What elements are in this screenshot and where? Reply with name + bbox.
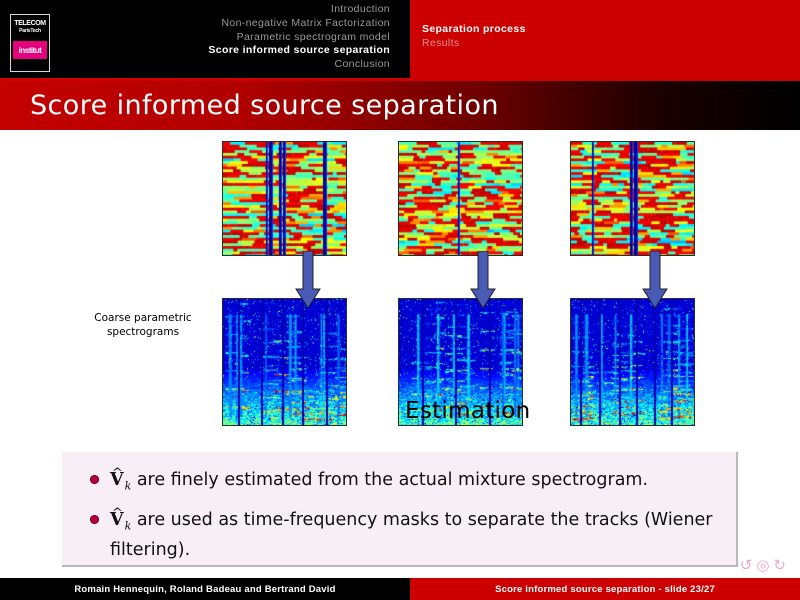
spectrogram-canvas bbox=[399, 142, 523, 256]
logo-telecom-text: TELECOM bbox=[13, 20, 47, 28]
logo-paristech-text: ParisTech bbox=[13, 28, 47, 35]
spectrogram-canvas bbox=[571, 299, 695, 426]
v-hat-symbol: ^V bbox=[110, 510, 125, 530]
spectrogram-coarse-track-3 bbox=[570, 141, 695, 256]
footer-authors-area: Romain Hennequin, Roland Badeau and Bert… bbox=[0, 578, 410, 600]
page-title: Score informed source separation bbox=[0, 90, 499, 121]
footer-section-area: Score informed source separation - slide… bbox=[410, 578, 800, 600]
nav-item-introduction[interactable]: Introduction bbox=[150, 3, 390, 17]
bullet-dot-icon bbox=[90, 515, 99, 524]
magnifier-icon[interactable]: ◎ bbox=[756, 558, 769, 573]
beamer-navigation-symbols[interactable]: ↺ ◎ ↻ bbox=[740, 558, 786, 573]
bullet-sentence-2: are used as time-frequency masks to sepa… bbox=[110, 510, 713, 561]
nav-item-results[interactable]: Results bbox=[422, 36, 762, 50]
bullet-text-2: ^Vk are used as time-frequency masks to … bbox=[110, 508, 714, 564]
hat-accent: ^ bbox=[110, 501, 125, 526]
bullet-sentence-1: are finely estimated from the actual mix… bbox=[131, 470, 648, 490]
forward-arrow-icon[interactable]: ↻ bbox=[773, 558, 786, 573]
label-coarse-line1: Coarse parametric bbox=[78, 311, 208, 325]
bullet-dot-icon bbox=[90, 475, 99, 484]
label-coarse-parametric-spectrograms: Coarse parametric spectrograms bbox=[78, 311, 208, 339]
spectrogram-coarse-track-1 bbox=[222, 141, 347, 256]
nav-item-separation-process[interactable]: Separation process bbox=[422, 22, 762, 36]
v-hat-symbol: ^V bbox=[110, 470, 125, 490]
back-arrow-icon[interactable]: ↺ bbox=[740, 558, 753, 573]
nav-item-conclusion[interactable]: Conclusion bbox=[150, 58, 390, 72]
footer-authors: Romain Hennequin, Roland Badeau and Bert… bbox=[74, 584, 335, 595]
bullet-item-1: ^Vk are finely estimated from the actual… bbox=[84, 468, 714, 499]
figure-area: Coarse parametric spectrograms fine para… bbox=[0, 133, 800, 443]
spectrogram-canvas bbox=[571, 142, 695, 256]
summary-block: ^Vk are finely estimated from the actual… bbox=[62, 452, 738, 567]
nav-item-parametric-model[interactable]: Parametric spectrogram model bbox=[150, 31, 390, 45]
arrow-down-icon-left bbox=[295, 251, 321, 309]
bullet-item-2: ^Vk are used as time-frequency masks to … bbox=[84, 508, 714, 564]
slide-header: TELECOM ParisTech institut Introduction … bbox=[0, 0, 800, 78]
nav-item-nmf[interactable]: Non-negative Matrix Factorization bbox=[150, 17, 390, 31]
slide-footer: Romain Hennequin, Roland Badeau and Bert… bbox=[0, 578, 800, 600]
spectrogram-canvas bbox=[223, 142, 347, 256]
section-navigation-left: Introduction Non-negative Matrix Factori… bbox=[150, 3, 390, 72]
footer-section-and-slide-number: Score informed source separation - slide… bbox=[495, 584, 715, 595]
bullet-text-1: ^Vk are finely estimated from the actual… bbox=[110, 468, 648, 499]
logo-institut-mark: institut bbox=[13, 41, 47, 59]
arrow-down-icon-right bbox=[642, 251, 668, 309]
spectrogram-fine-track-3 bbox=[570, 298, 695, 426]
subsection-navigation-right: Separation process Results bbox=[422, 22, 762, 50]
arrow-down-icon-middle bbox=[470, 251, 496, 309]
telecom-paristech-logo: TELECOM ParisTech institut bbox=[10, 14, 50, 72]
spectrogram-coarse-track-2 bbox=[398, 141, 523, 256]
spectrogram-canvas bbox=[223, 299, 347, 426]
hat-accent: ^ bbox=[110, 461, 125, 486]
slide-title-bar: Score informed source separation bbox=[0, 78, 800, 130]
nav-item-score-informed-source-separation[interactable]: Score informed source separation bbox=[150, 44, 390, 58]
estimation-label: Estimation bbox=[405, 398, 530, 424]
label-coarse-line2: spectrograms bbox=[78, 325, 208, 339]
spectrogram-fine-track-1 bbox=[222, 298, 347, 426]
